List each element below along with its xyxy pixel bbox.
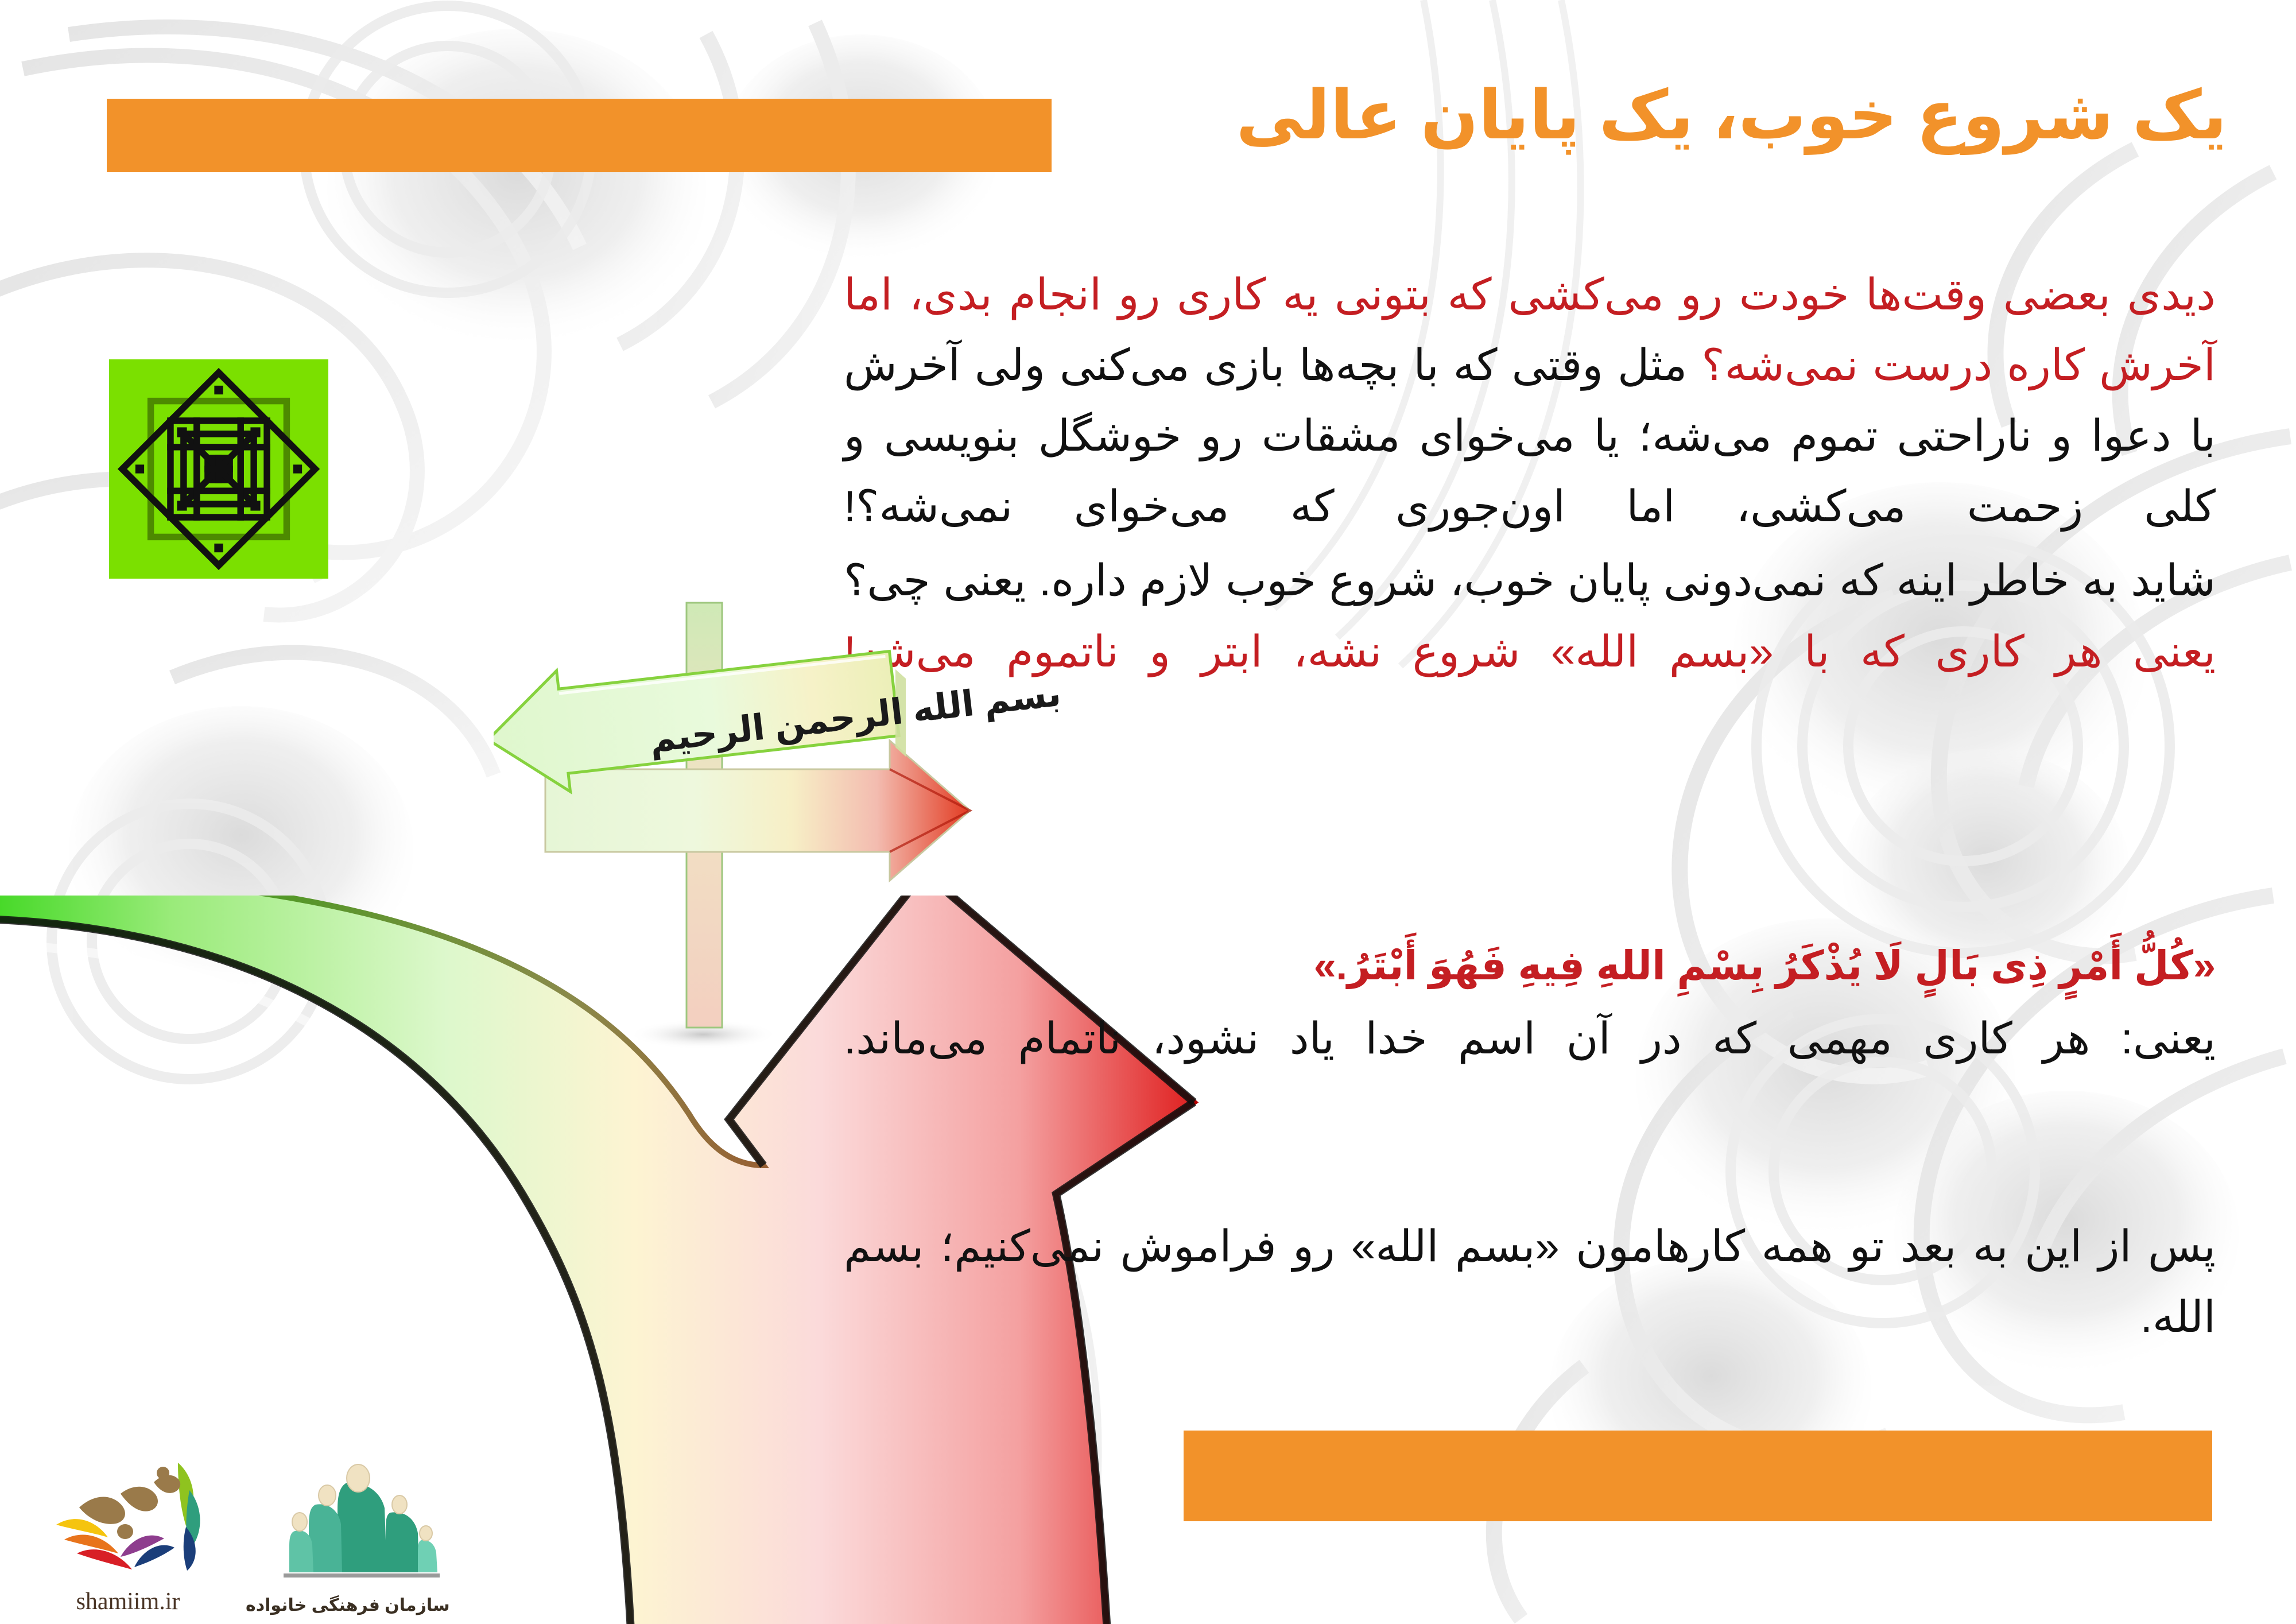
footer-logos: سازمان فرهنگی خانواده [45, 1452, 450, 1615]
closing-text: پس از این به بعد تو همه کارهامون «بسم ال… [844, 1211, 2216, 1352]
header-orange-bar [107, 99, 1052, 172]
paragraph-1: دیدی بعضی وقت‌ها خودت رو می‌کشی که بتونی… [844, 259, 2216, 542]
family-cultural-organization-caption: سازمان فرهنگی خانواده [246, 1595, 450, 1615]
page-title: یک شروع خوب، یک پایان عالی [976, 73, 2227, 158]
shamiim-url-caption: shamiim.ir [45, 1588, 211, 1615]
family-cultural-organization-logo: سازمان فرهنگی خانواده [246, 1460, 450, 1615]
shamiim-logo: shamiim.ir [45, 1452, 211, 1615]
kufic-star-ornament [109, 359, 328, 579]
poster-canvas: یک شروع خوب، یک پایان عالی [0, 0, 2296, 1624]
closing-block: پس از این به بعد تو همه کارهامون «بسم ال… [844, 1211, 2216, 1352]
footer-orange-bar [1184, 1431, 2212, 1521]
signpost-graphic: بسم الله الرحمن الرحیم [494, 597, 1085, 1068]
